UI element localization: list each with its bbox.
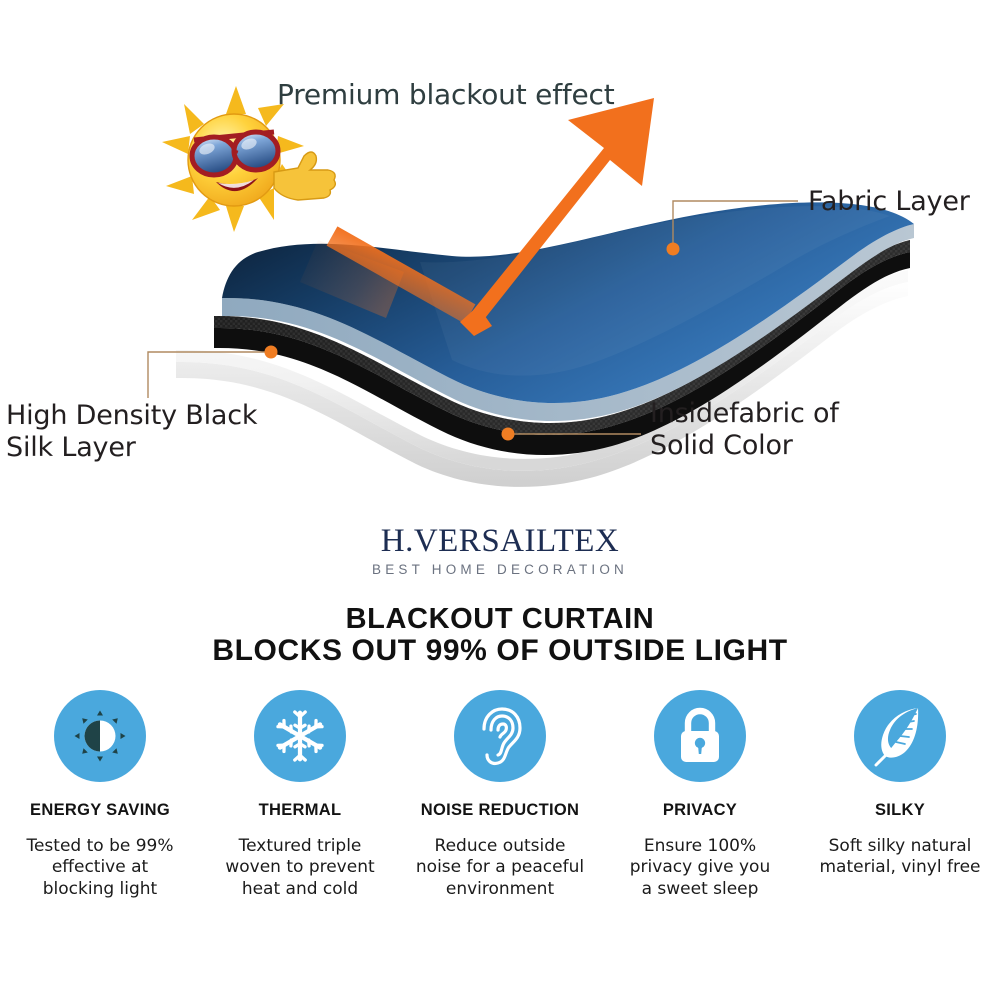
layer-diagram-section: Premium blackout effect Fabric Layer Hig… [0,0,1000,510]
inside-fabric-solid-color-label: Insidefabric of Solid Color [650,398,839,462]
feature-title: PRIVACY [663,802,737,819]
padlock-icon [674,706,726,766]
feature-description: Soft silky natural material, vinyl free [810,836,990,880]
headline-line-1: BLACKOUT CURTAIN [0,604,1000,635]
fabric-layer-label: Fabric Layer [808,186,970,218]
feature-icon-wrap [854,690,946,782]
feature-icon-wrap [254,690,346,782]
brand-name: H.VERSAILTEX [0,525,1000,558]
ear-icon [472,705,528,767]
feature-silky: SILKY Soft silky natural material, vinyl… [800,690,1000,901]
feature-description: Reduce outside noise for a peaceful envi… [410,836,590,901]
feature-description: Tested to be 99% effective at blocking l… [10,836,190,901]
thumbs-up-icon [274,152,335,200]
infographic-page: Premium blackout effect Fabric Layer Hig… [0,0,1000,1000]
brand-logo: H.VERSAILTEX BEST HOME DECORATION [0,525,1000,577]
feature-thermal: THERMAL Textured triple woven to prevent… [200,690,400,901]
snowflake-icon [271,707,329,765]
feature-title: ENERGY SAVING [30,802,170,819]
product-headline: BLACKOUT CURTAIN BLOCKS OUT 99% OF OUTSI… [0,604,1000,667]
feather-icon [872,704,928,768]
premium-blackout-effect-label: Premium blackout effect [277,78,615,111]
feature-description: Ensure 100% privacy give you a sweet sle… [610,836,790,901]
headline-line-2: BLOCKS OUT 99% OF OUTSIDE LIGHT [0,635,1000,667]
high-density-black-silk-layer-label: High Density Black Silk Layer [6,400,257,464]
feature-icon-wrap [454,690,546,782]
feature-title: NOISE REDUCTION [421,802,580,819]
feature-description: Textured triple woven to prevent heat an… [210,836,390,901]
feature-row: ENERGY SAVING Tested to be 99% effective… [0,690,1000,901]
feature-icon-wrap [654,690,746,782]
feature-privacy: PRIVACY Ensure 100% privacy give you a s… [600,690,800,901]
feature-noise-reduction: NOISE REDUCTION Reduce outside noise for… [400,690,600,901]
feature-icon-wrap [54,690,146,782]
brightness-contrast-icon [70,706,130,766]
brand-tagline: BEST HOME DECORATION [0,563,1000,577]
feature-title: THERMAL [259,802,342,819]
feature-energy-saving: ENERGY SAVING Tested to be 99% effective… [0,690,200,901]
feature-title: SILKY [875,802,925,819]
